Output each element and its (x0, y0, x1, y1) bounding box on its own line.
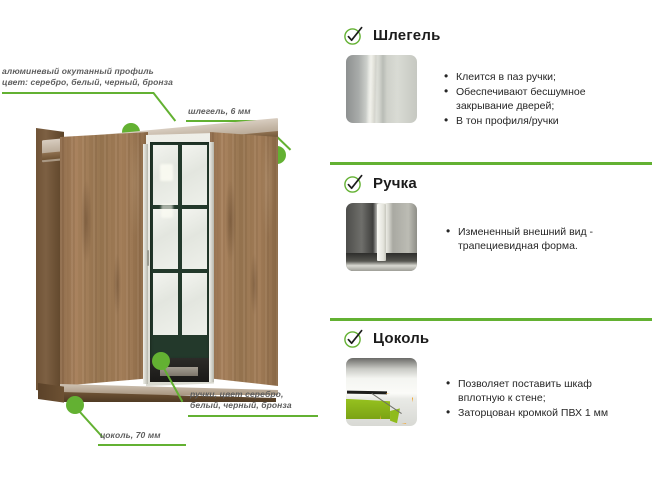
door-right-wood (210, 132, 278, 386)
feature-title: Шлегель (373, 27, 441, 44)
feature-bullets: Клеится в паз ручки; Обеспечивают бесшум… (417, 55, 652, 129)
feature-bullets: Измененный внешний вид - трапециевидная … (417, 203, 652, 254)
mirror-pane (153, 209, 178, 269)
bullet-item: В тон профиля/ручки (444, 114, 642, 128)
bullet-item: Позволяет поставить шкаф вплотную к стен… (446, 377, 642, 405)
mirror-pane (182, 273, 207, 335)
callout-plinth-rule (98, 444, 186, 446)
callout-plinth-line1: цоколь, 70 мм (100, 430, 161, 441)
mirror-reflection-frame (150, 142, 210, 360)
callout-profile-rule (2, 92, 154, 94)
bullet-item: Обеспечивают бесшумное закрывание дверей… (444, 85, 642, 113)
feature-tsokol: Цоколь Позволяет поставить шкаф вплотную… (330, 325, 652, 426)
infographic-page: алюминевый окутанный профиль цвет: сереб… (0, 0, 652, 500)
feature-header: Ручка (330, 170, 652, 196)
feature-ruchka: Ручка Измененный внешний вид - трапециев… (330, 170, 652, 271)
feature-body: Позволяет поставить шкаф вплотную к стен… (330, 358, 652, 426)
wardrobe-illustration-panel: алюминевый окутанный профиль цвет: сереб… (0, 0, 330, 500)
callout-profile-line1: алюминевый окутанный профиль (2, 66, 154, 77)
callout-handles-line2: белый, черный, бронза (190, 400, 292, 411)
feature-bullets: Позволяет поставить шкаф вплотную к стен… (417, 358, 652, 421)
feature-body: Измененный внешний вид - трапециевидная … (330, 203, 652, 271)
section-divider (330, 162, 652, 165)
callout-plinth-leader (74, 405, 104, 438)
feature-header: Шлегель (330, 22, 652, 48)
handle-profile-right (209, 142, 214, 382)
feature-shlegel: Шлегель Клеится в паз ручки; Обеспечиваю… (330, 22, 652, 129)
plinth-photo (346, 358, 417, 426)
shlegel-photo (346, 55, 417, 123)
mirror-pane (182, 145, 207, 205)
bullet-item: Измененный внешний вид - трапециевидная … (446, 225, 642, 253)
wardrobe-left-foot (38, 383, 64, 403)
door-grip (147, 250, 149, 266)
check-circle-icon (343, 173, 364, 194)
features-panel: Шлегель Клеится в паз ручки; Обеспечиваю… (330, 0, 652, 500)
mirror-highlight (161, 204, 173, 218)
section-divider (330, 318, 652, 321)
feature-header: Цоколь (330, 325, 652, 351)
mirror-highlight (160, 164, 173, 181)
wardrobe-doors (60, 132, 278, 386)
callout-handles-rule (188, 415, 318, 417)
bullet-item: Заторцован кромкой ПВХ 1 мм (446, 406, 642, 420)
feature-title: Цоколь (373, 330, 429, 347)
handle-photo (346, 203, 417, 271)
check-circle-icon (343, 328, 364, 349)
feature-title: Ручка (373, 175, 417, 192)
feature-body: Клеится в паз ручки; Обеспечивают бесшум… (330, 55, 652, 129)
mirror-pane (182, 209, 207, 269)
bullet-item: Клеится в паз ручки; (444, 70, 642, 84)
check-circle-icon (343, 25, 364, 46)
callout-handles-line1: ручки, цвет серебро, (190, 389, 283, 400)
callout-shlegel-line1: шлегель, 6 мм (188, 106, 251, 117)
callout-profile-line2: цвет: серебро, белый, черный, бронза (2, 77, 173, 88)
plinth-shadow-line (347, 391, 387, 395)
annotation-outline (380, 393, 413, 424)
mirror-pane (153, 273, 178, 335)
door-center-mirror (146, 132, 214, 386)
door-left-wood (60, 132, 148, 386)
